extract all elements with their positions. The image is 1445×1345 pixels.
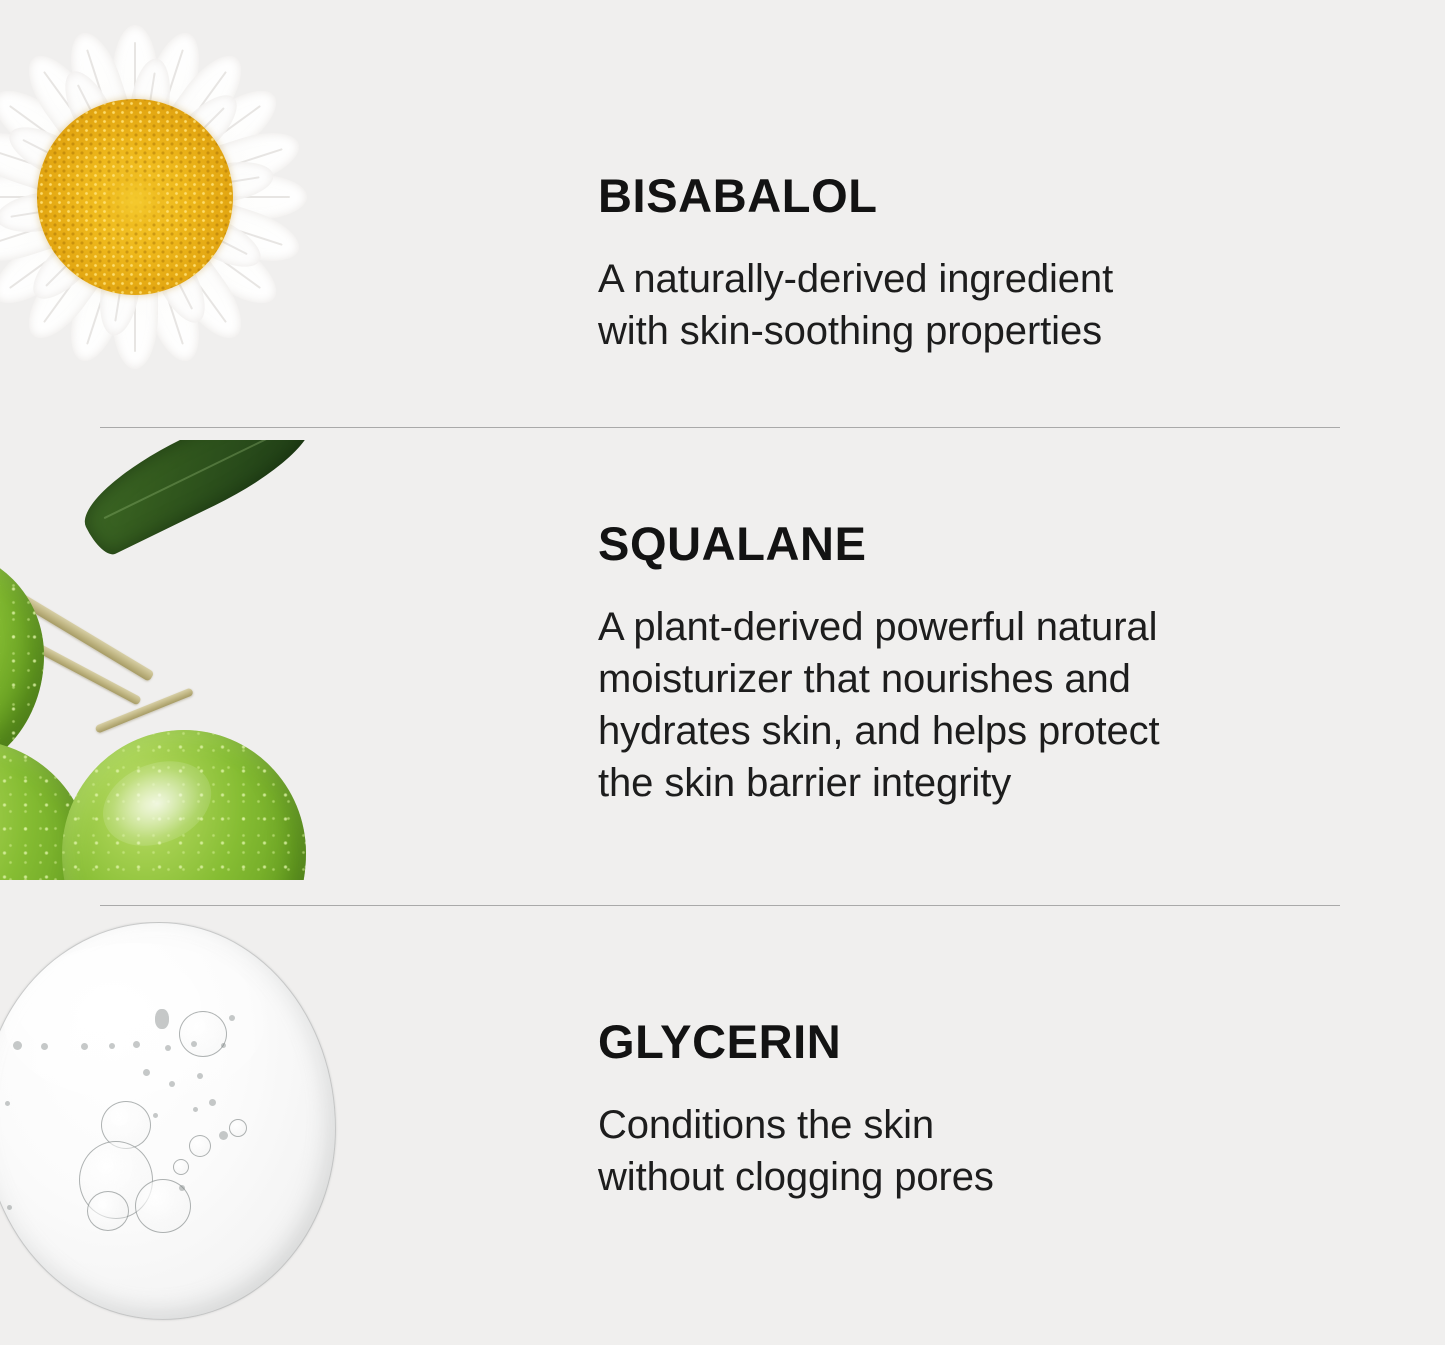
description-line: Conditions the skin xyxy=(598,1103,934,1147)
gel-droplet-image xyxy=(0,922,382,1330)
gel-speck xyxy=(133,1041,140,1048)
gel-speck xyxy=(5,1101,10,1106)
gel-speck xyxy=(153,1113,158,1118)
glycerin-copy-block: GLYCERIN Conditions the skin without clo… xyxy=(598,1018,994,1203)
gel-sheen xyxy=(4,943,264,1101)
gel-speck xyxy=(219,1131,228,1140)
description-line: A plant-derived powerful natural xyxy=(598,605,1157,649)
gel-speck xyxy=(221,1043,226,1048)
description-line: hydrates skin, and helps protect xyxy=(598,709,1160,753)
section-divider xyxy=(100,427,1340,428)
squalane-copy-block: SQUALANE A plant-derived powerful natura… xyxy=(598,520,1160,809)
daisy-flower-image xyxy=(0,0,375,412)
gel-speck xyxy=(13,1041,22,1050)
ingredient-description-bisabalol: A naturally-derived ingredient with skin… xyxy=(598,253,1113,357)
gel-bubble xyxy=(179,1011,227,1057)
ingredient-description-glycerin: Conditions the skin without clogging por… xyxy=(598,1099,994,1203)
section-divider xyxy=(100,905,1340,906)
ingredient-title-bisabalol: BISABALOL xyxy=(598,172,1113,219)
gel-bubble xyxy=(87,1191,129,1231)
gel-speck xyxy=(193,1107,198,1112)
description-line: the skin barrier integrity xyxy=(598,761,1011,805)
gel-speck xyxy=(165,1045,171,1051)
gel-speck xyxy=(229,1015,235,1021)
gel-speck xyxy=(81,1043,88,1050)
bisabalol-copy-block: BISABALOL A naturally-derived ingredient… xyxy=(598,172,1113,357)
gel-speck xyxy=(169,1081,175,1087)
daisy-composite xyxy=(0,0,375,412)
description-line: A naturally-derived ingredient xyxy=(598,257,1113,301)
gel-bubble xyxy=(173,1159,189,1175)
daisy-center-disc xyxy=(37,99,233,295)
olive-leaf xyxy=(70,440,327,560)
green-olives-image xyxy=(0,440,430,880)
description-line: without clogging pores xyxy=(598,1155,994,1199)
gel-speck xyxy=(41,1043,48,1050)
daisy-disc-highlight xyxy=(106,172,164,230)
ingredient-benefits-panel: BISABALOL A naturally-derived ingredient… xyxy=(0,0,1445,1345)
gel-speck xyxy=(143,1069,150,1076)
olive-leaf-stalk xyxy=(95,687,194,733)
description-line: moisturizer that nourishes and xyxy=(598,657,1131,701)
gel-speck xyxy=(7,1205,12,1210)
gel-speck xyxy=(109,1043,115,1049)
ingredient-description-squalane: A plant-derived powerful natural moistur… xyxy=(598,601,1160,809)
gel-speck xyxy=(209,1099,216,1106)
gel-bubble xyxy=(229,1119,247,1137)
gel-droplet xyxy=(0,922,336,1320)
ingredient-title-squalane: SQUALANE xyxy=(598,520,1160,567)
gel-speck xyxy=(155,1009,169,1029)
gel-speck xyxy=(197,1073,203,1079)
ingredient-title-glycerin: GLYCERIN xyxy=(598,1018,994,1065)
gel-speck xyxy=(191,1041,197,1047)
gel-bubble xyxy=(189,1135,211,1157)
description-line: with skin-soothing properties xyxy=(598,309,1102,353)
olive-fruit xyxy=(62,730,306,880)
gel-speck xyxy=(179,1185,185,1191)
